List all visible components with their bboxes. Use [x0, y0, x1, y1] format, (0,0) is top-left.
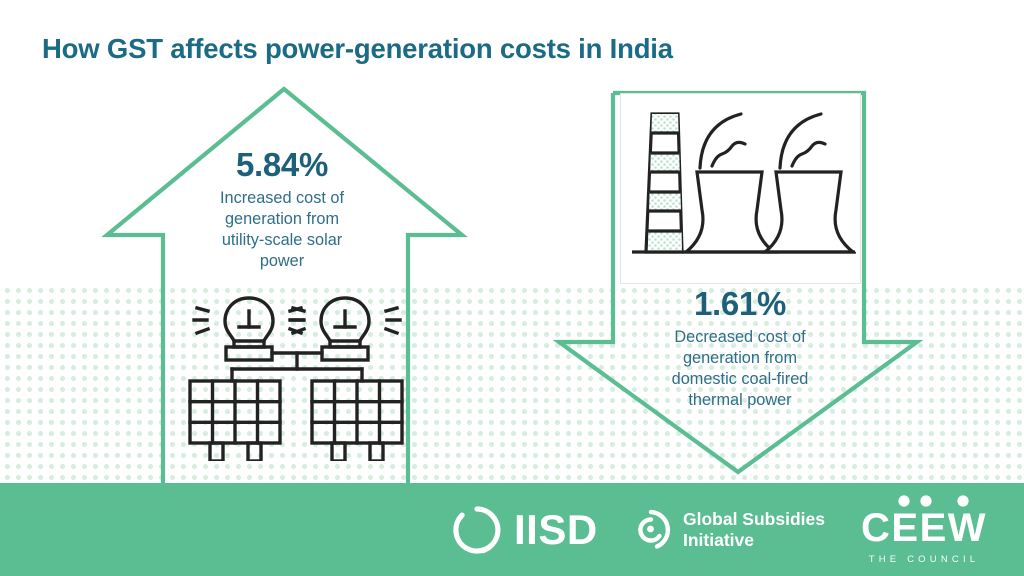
logo-ceew[interactable]: CEEW THE COUNCIL [860, 495, 988, 565]
gsi-wordmark: Global Subsidies Initiative [683, 509, 825, 550]
footer-bar: IISD Global Subsidies Initiative [0, 483, 1024, 576]
coal-power-plant-icon [624, 100, 856, 278]
stat-block-coal: 1.61% Decreased cost of generation from … [624, 287, 856, 412]
solar-panels-and-bulbs-icon [186, 289, 408, 461]
gsi-wordmark-line2: Initiative [683, 530, 825, 550]
iisd-broken-circle-icon [452, 505, 502, 555]
stat-block-solar: 5.84% Increased cost of generation from … [168, 148, 396, 273]
gsi-spiral-icon [630, 509, 672, 551]
ceew-tagline: THE COUNCIL [860, 554, 988, 565]
logo-gsi[interactable]: Global Subsidies Initiative [630, 509, 825, 551]
stat-description-solar: Increased cost of generation from utilit… [168, 188, 396, 273]
stat-percent-coal: 1.61% [624, 287, 856, 322]
iisd-wordmark: IISD [514, 509, 598, 551]
footer-logo-row: IISD Global Subsidies Initiative [0, 483, 1024, 576]
stat-percent-solar: 5.84% [168, 148, 396, 183]
stat-description-coal: Decreased cost of generation from domest… [624, 327, 856, 412]
ceew-wordmark: CEEW [860, 508, 988, 548]
page-title: How GST affects power-generation costs i… [42, 33, 673, 65]
logo-iisd[interactable]: IISD [452, 505, 598, 555]
infographic-canvas: How GST affects power-generation costs i… [0, 0, 1024, 576]
gsi-wordmark-line1: Global Subsidies [683, 509, 825, 529]
